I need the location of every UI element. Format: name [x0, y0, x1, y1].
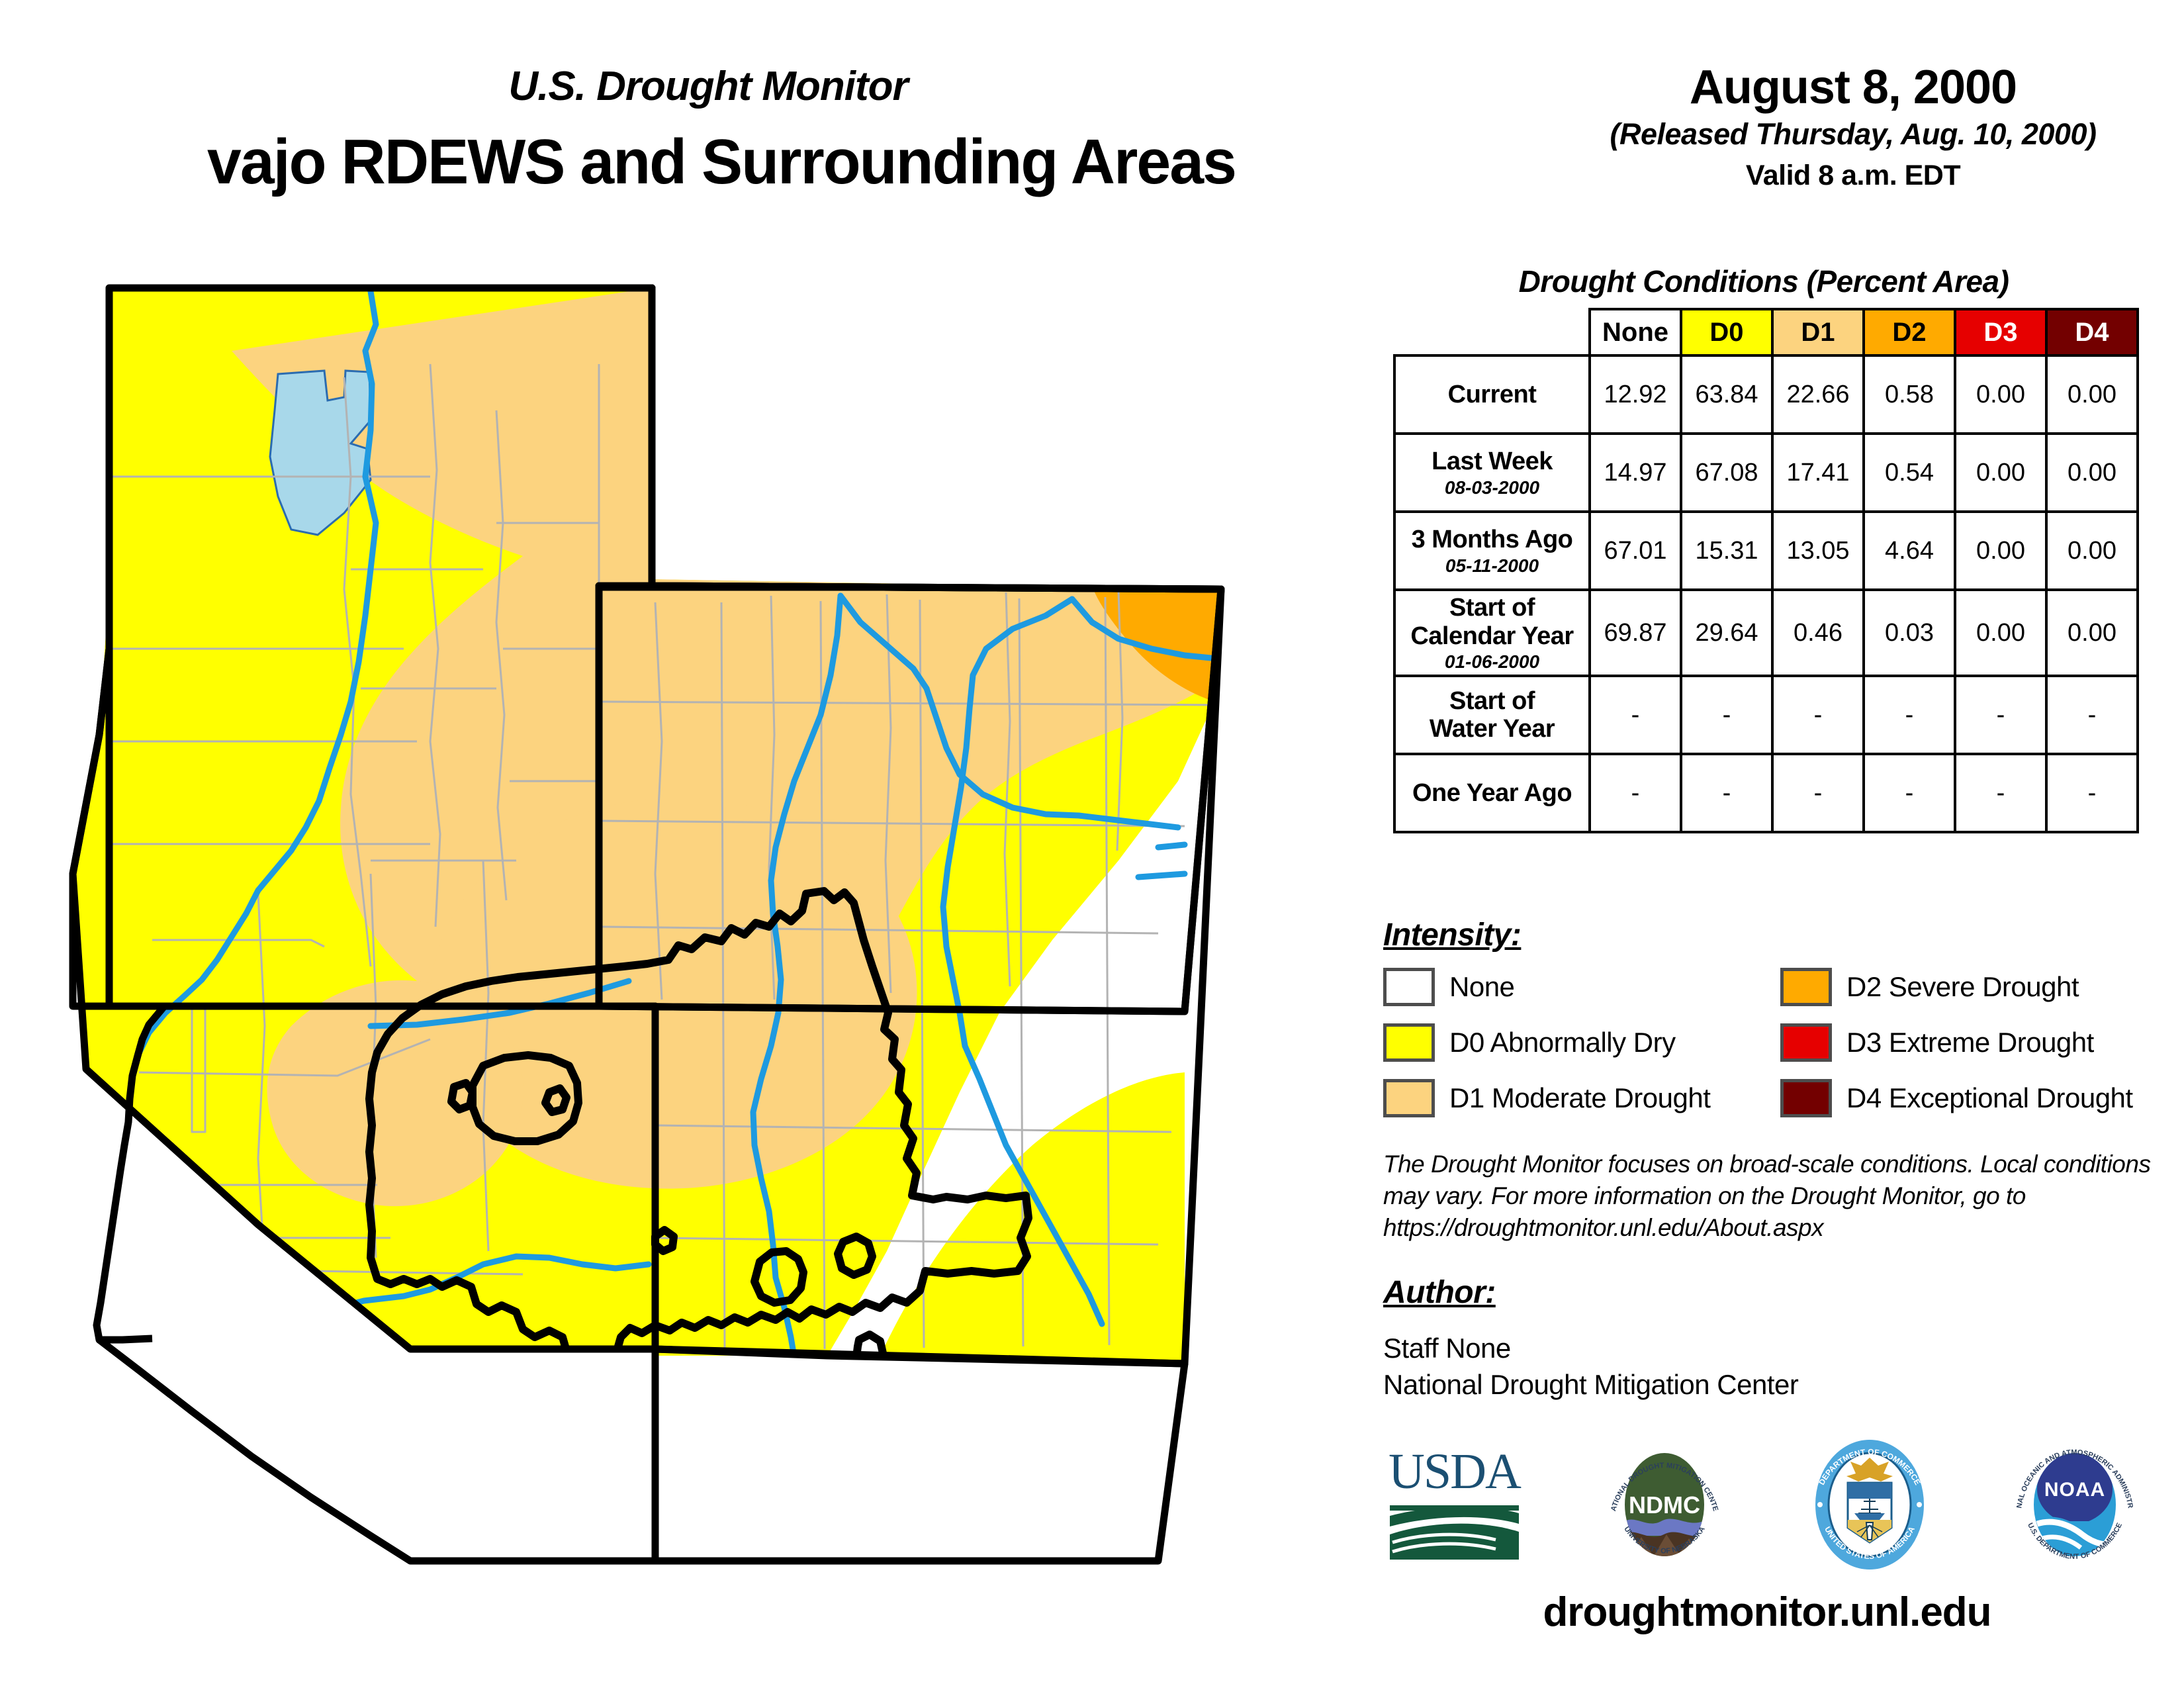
date-block: August 8, 2000 (Released Thursday, Aug. … — [1522, 63, 2184, 196]
author-name: Staff None — [1383, 1331, 2111, 1367]
drought-map[interactable] — [60, 278, 1370, 1615]
legend-label: D1 Moderate Drought — [1449, 1082, 1710, 1114]
legend-swatch — [1383, 968, 1435, 1006]
table-cell-d1: 13.05 — [1772, 512, 1864, 590]
table-cell-d2: 0.58 — [1864, 355, 1955, 434]
legend-label: D4 Exceptional Drought — [1846, 1082, 2133, 1114]
table-cell-d1: 0.46 — [1772, 590, 1864, 676]
table-cell-d0: - — [1681, 676, 1772, 754]
table-cell-none: - — [1590, 676, 1681, 754]
legend-item: D1 Moderate Drought — [1383, 1079, 1780, 1117]
column-header-d4: D4 — [2046, 309, 2138, 355]
disclaimer-text: The Drought Monitor focuses on broad-sca… — [1383, 1149, 2184, 1244]
valid-date: August 8, 2000 — [1522, 63, 2184, 113]
row-label: One Year Ago — [1394, 754, 1590, 832]
table-cell-d4: 0.00 — [2046, 512, 2138, 590]
row-label: Last Week08-03-2000 — [1394, 434, 1590, 512]
table-row: One Year Ago------ — [1394, 754, 2138, 832]
table-cell-d3: - — [1955, 676, 2046, 754]
legend-swatch — [1383, 1079, 1435, 1117]
row-label: Current — [1394, 355, 1590, 434]
column-header-d2: D2 — [1864, 309, 1955, 355]
ndmc-logo: NDMC NATIONAL DROUGHT MITIGATION CENTER … — [1595, 1435, 1734, 1577]
table-cell-d3: 0.00 — [1955, 434, 2046, 512]
column-header-d1: D1 — [1772, 309, 1864, 355]
doc-seal: DEPARTMENT OF COMMERCE UNITED STATES OF … — [1800, 1435, 1939, 1577]
column-header-d0: D0 — [1681, 309, 1772, 355]
usda-logo: USDA — [1383, 1442, 1529, 1571]
legend-item: D3 Extreme Drought — [1780, 1023, 2151, 1062]
table-corner-cell — [1394, 309, 1590, 355]
map-svg[interactable] — [60, 278, 1370, 1615]
table-cell-d2: - — [1864, 676, 1955, 754]
table-cell-d0: 67.08 — [1681, 434, 1772, 512]
column-header-none: None — [1590, 309, 1681, 355]
table-cell-d1: - — [1772, 754, 1864, 832]
table-cell-d4: 0.00 — [2046, 355, 2138, 434]
table-cell-d0: - — [1681, 754, 1772, 832]
table-cell-d4: - — [2046, 754, 2138, 832]
table-caption: Drought Conditions (Percent Area) — [1383, 263, 2144, 299]
table-cell-d1: 17.41 — [1772, 434, 1864, 512]
table-cell-none: - — [1590, 754, 1681, 832]
valid-time: Valid 8 a.m. EDT — [1522, 155, 2184, 196]
legend-label: D3 Extreme Drought — [1846, 1027, 2094, 1058]
table-cell-d2: 0.54 — [1864, 434, 1955, 512]
legend-item: None — [1383, 968, 1780, 1006]
row-label-date: 01-06-2000 — [1397, 651, 1587, 672]
table-cell-d4: - — [2046, 676, 2138, 754]
table-cell-none: 67.01 — [1590, 512, 1681, 590]
table-row: 3 Months Ago05-11-200067.0115.3113.054.6… — [1394, 512, 2138, 590]
author-block: Staff None National Drought Mitigation C… — [1383, 1331, 2111, 1403]
logo-row: USDA NDMC NATIONA — [1383, 1436, 2144, 1575]
table-cell-d3: - — [1955, 754, 2046, 832]
legend-swatch — [1780, 968, 1832, 1006]
table-row: Last Week08-03-200014.9767.0817.410.540.… — [1394, 434, 2138, 512]
table-cell-d2: 0.03 — [1864, 590, 1955, 676]
table-cell-d1: - — [1772, 676, 1864, 754]
program-title: U.S. Drought Monitor — [410, 63, 1006, 110]
author-heading: Author: — [1383, 1274, 1496, 1311]
table-cell-d1: 22.66 — [1772, 355, 1864, 434]
legend-item: D4 Exceptional Drought — [1780, 1079, 2151, 1117]
released-date: (Released Thursday, Aug. 10, 2000) — [1522, 113, 2184, 155]
page-header: U.S. Drought Monitor vajo RDEWS and Surr… — [0, 0, 2184, 238]
legend-swatch — [1780, 1023, 1832, 1062]
table-cell-d0: 15.31 — [1681, 512, 1772, 590]
legend-title: Intensity: — [1383, 917, 2151, 953]
table-cell-d2: - — [1864, 754, 1955, 832]
table-cell-d3: 0.00 — [1955, 355, 2046, 434]
table-cell-d3: 0.00 — [1955, 590, 2046, 676]
table-cell-d2: 4.64 — [1864, 512, 1955, 590]
author-organization: National Drought Mitigation Center — [1383, 1367, 2111, 1403]
table-header-row: None D0 D1 D2 D3 D4 — [1394, 309, 2138, 355]
legend-grid: NoneD2 Severe DroughtD0 Abnormally DryD3… — [1383, 968, 2151, 1117]
table-row: Current12.9263.8422.660.580.000.00 — [1394, 355, 2138, 434]
legend-item: D0 Abnormally Dry — [1383, 1023, 1780, 1062]
table-cell-none: 69.87 — [1590, 590, 1681, 676]
row-label-date: 05-11-2000 — [1397, 555, 1587, 576]
row-label: Start ofWater Year — [1394, 676, 1590, 754]
footer-url[interactable]: droughtmonitor.unl.edu — [1383, 1589, 2151, 1636]
map-base-layer — [60, 278, 1370, 1615]
table-row: Start ofCalendar Year01-06-200069.8729.6… — [1394, 590, 2138, 676]
table-cell-d4: 0.00 — [2046, 434, 2138, 512]
arizona-south-border — [99, 1340, 655, 1561]
new-mexico-south-border — [655, 1364, 1185, 1561]
svg-text:USDA: USDA — [1388, 1444, 1522, 1499]
legend-item: D2 Severe Drought — [1780, 968, 2151, 1006]
legend-label: D2 Severe Drought — [1846, 971, 2079, 1003]
table-cell-d4: 0.00 — [2046, 590, 2138, 676]
legend-swatch — [1780, 1079, 1832, 1117]
svg-text:NDMC: NDMC — [1629, 1491, 1700, 1519]
row-label-date: 08-03-2000 — [1397, 477, 1587, 498]
region-title: vajo RDEWS and Surrounding Areas — [0, 126, 1498, 199]
intensity-legend: Intensity: NoneD2 Severe DroughtD0 Abnor… — [1383, 917, 2151, 1117]
row-label: 3 Months Ago05-11-2000 — [1394, 512, 1590, 590]
drought-conditions-table: None D0 D1 D2 D3 D4 Current12.9263.8422.… — [1393, 308, 2139, 833]
row-label: Start ofCalendar Year01-06-2000 — [1394, 590, 1590, 676]
table-row: Start ofWater Year------ — [1394, 676, 2138, 754]
svg-text:NOAA: NOAA — [2044, 1479, 2105, 1501]
table-cell-d0: 29.64 — [1681, 590, 1772, 676]
table-cell-none: 12.92 — [1590, 355, 1681, 434]
column-header-d3: D3 — [1955, 309, 2046, 355]
legend-label: None — [1449, 971, 1514, 1003]
table-body: Current12.9263.8422.660.580.000.00Last W… — [1394, 355, 2138, 832]
table-cell-d3: 0.00 — [1955, 512, 2046, 590]
legend-swatch — [1383, 1023, 1435, 1062]
table-cell-d0: 63.84 — [1681, 355, 1772, 434]
legend-label: D0 Abnormally Dry — [1449, 1027, 1676, 1058]
noaa-logo: NOAA NATIONAL OCEANIC AND ATMOSPHERIC AD… — [2005, 1435, 2144, 1577]
table-cell-none: 14.97 — [1590, 434, 1681, 512]
